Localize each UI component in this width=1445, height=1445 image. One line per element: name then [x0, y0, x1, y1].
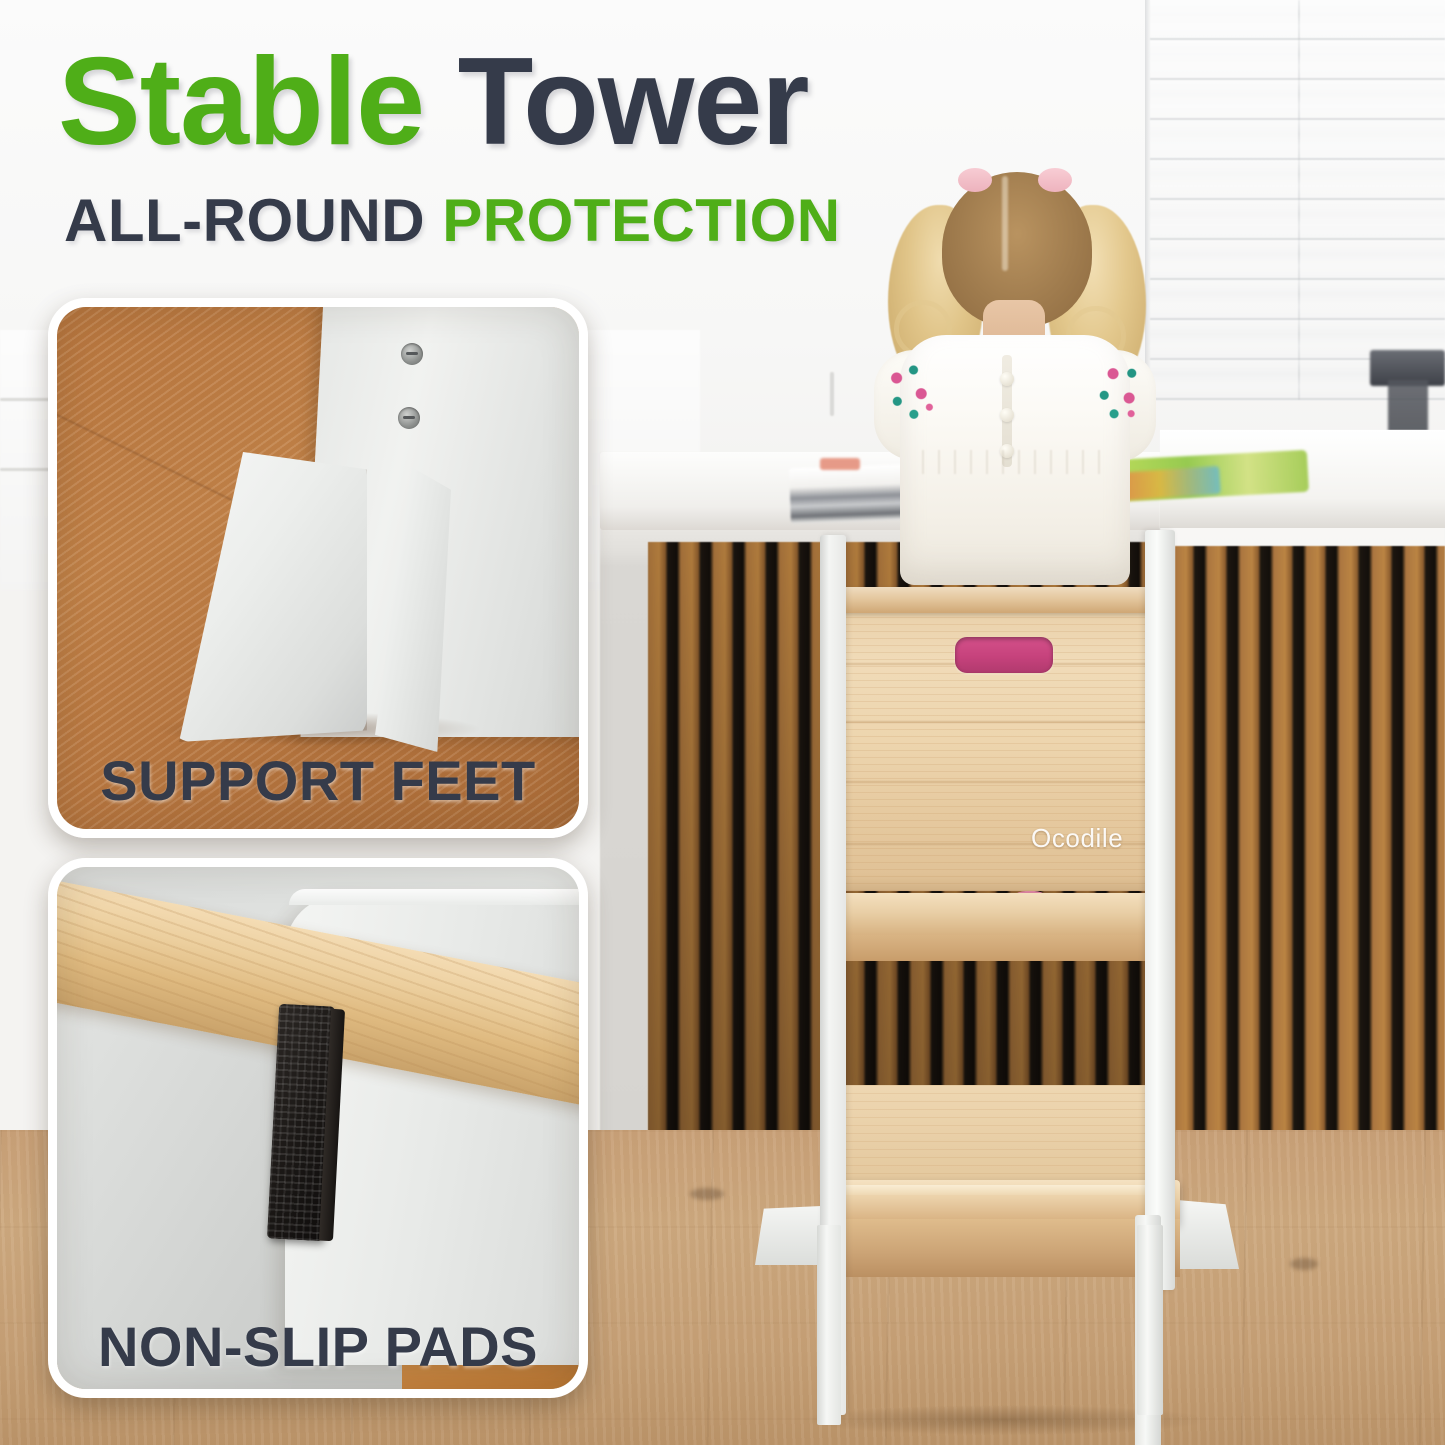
tower-leg-right	[1137, 1225, 1163, 1415]
feature-card-support-feet: SUPPORT FEET	[48, 298, 588, 838]
cabinet-seam	[830, 372, 834, 416]
card-label-non-slip-pads: NON-SLIP PADS	[57, 1314, 579, 1379]
poster-header: Stable Tower ALL-ROUND PROTECTION	[0, 0, 1445, 255]
headline-word-stable: Stable	[58, 33, 424, 171]
learning-tower: Ocodile	[745, 525, 1225, 1445]
brand-logo: Ocodile	[1031, 823, 1123, 854]
floor-knot	[1290, 1258, 1318, 1270]
card-label-support-feet: SUPPORT FEET	[57, 748, 579, 813]
screw-icon	[401, 343, 423, 365]
tower-handle-cutout	[955, 637, 1053, 673]
feature-card-non-slip-pads: NON-SLIP PADS	[48, 858, 588, 1398]
tower-bottom-step-edge	[830, 1219, 1180, 1277]
headline-word-tower: Tower	[458, 33, 809, 171]
subtitle-protection: PROTECTION	[425, 187, 841, 254]
tower-leg-left	[817, 1225, 841, 1425]
blouse-button	[1000, 372, 1014, 386]
tower-top-rail	[825, 587, 1170, 613]
tower-platform-edge	[825, 935, 1170, 961]
wood-grain-line	[823, 781, 1163, 783]
panel-top-edge	[289, 889, 579, 905]
page-title: Stable Tower	[58, 40, 1445, 164]
blouse-gathering	[922, 450, 1108, 474]
floor-knot	[690, 1188, 724, 1200]
page-subtitle: ALL-ROUND PROTECTION	[64, 186, 1445, 255]
tower-step-lip	[840, 1185, 1150, 1195]
tower-rail-post-right	[1145, 530, 1175, 1290]
tower-lower-panel	[840, 1085, 1150, 1190]
screw-icon	[398, 407, 420, 429]
product-poster: Ocodile	[0, 0, 1445, 1445]
wood-grain-line	[823, 721, 1163, 723]
book-accent	[820, 458, 860, 470]
tower-platform-step	[825, 893, 1170, 941]
subtitle-all-round: ALL-ROUND	[64, 187, 425, 254]
non-slip-pads-photo	[57, 867, 579, 1389]
blouse-button	[1000, 408, 1014, 422]
